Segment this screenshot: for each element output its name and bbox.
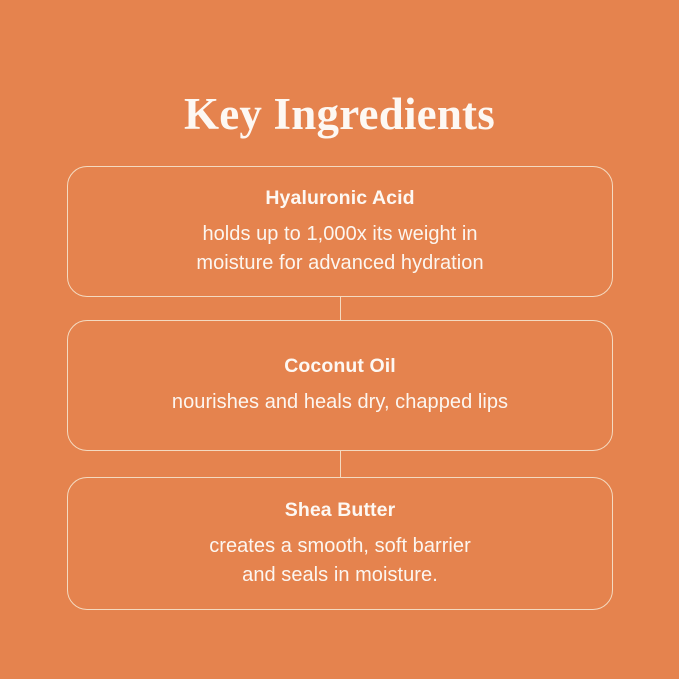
ingredient-description: creates a smooth, soft barrier and seals… bbox=[209, 532, 471, 590]
connector-card2-card3 bbox=[67, 451, 613, 477]
connector-card1-card2 bbox=[67, 297, 613, 320]
connector-line bbox=[340, 451, 341, 477]
ingredient-description-line: holds up to 1,000x its weight in bbox=[196, 220, 483, 249]
key-ingredients-poster: Key Ingredients Hyaluronic Acid holds up… bbox=[0, 0, 679, 679]
ingredient-card-shea-butter: Shea Butter creates a smooth, soft barri… bbox=[67, 477, 613, 610]
ingredient-card-stack: Hyaluronic Acid holds up to 1,000x its w… bbox=[67, 166, 613, 610]
ingredient-description-line: moisture for advanced hydration bbox=[196, 249, 483, 278]
ingredient-card-coconut-oil: Coconut Oil nourishes and heals dry, cha… bbox=[67, 320, 613, 451]
ingredient-description-line: creates a smooth, soft barrier bbox=[209, 532, 471, 561]
ingredient-description-line: and seals in moisture. bbox=[209, 561, 471, 590]
ingredient-description: nourishes and heals dry, chapped lips bbox=[172, 388, 508, 417]
ingredient-description: holds up to 1,000x its weight in moistur… bbox=[196, 220, 483, 278]
ingredient-description-line: nourishes and heals dry, chapped lips bbox=[172, 388, 508, 417]
connector-line bbox=[340, 297, 341, 320]
ingredient-card-hyaluronic-acid: Hyaluronic Acid holds up to 1,000x its w… bbox=[67, 166, 613, 297]
ingredient-title: Shea Butter bbox=[285, 498, 396, 522]
page-title: Key Ingredients bbox=[0, 88, 679, 140]
ingredient-title: Hyaluronic Acid bbox=[265, 186, 414, 210]
ingredient-title: Coconut Oil bbox=[284, 354, 396, 378]
